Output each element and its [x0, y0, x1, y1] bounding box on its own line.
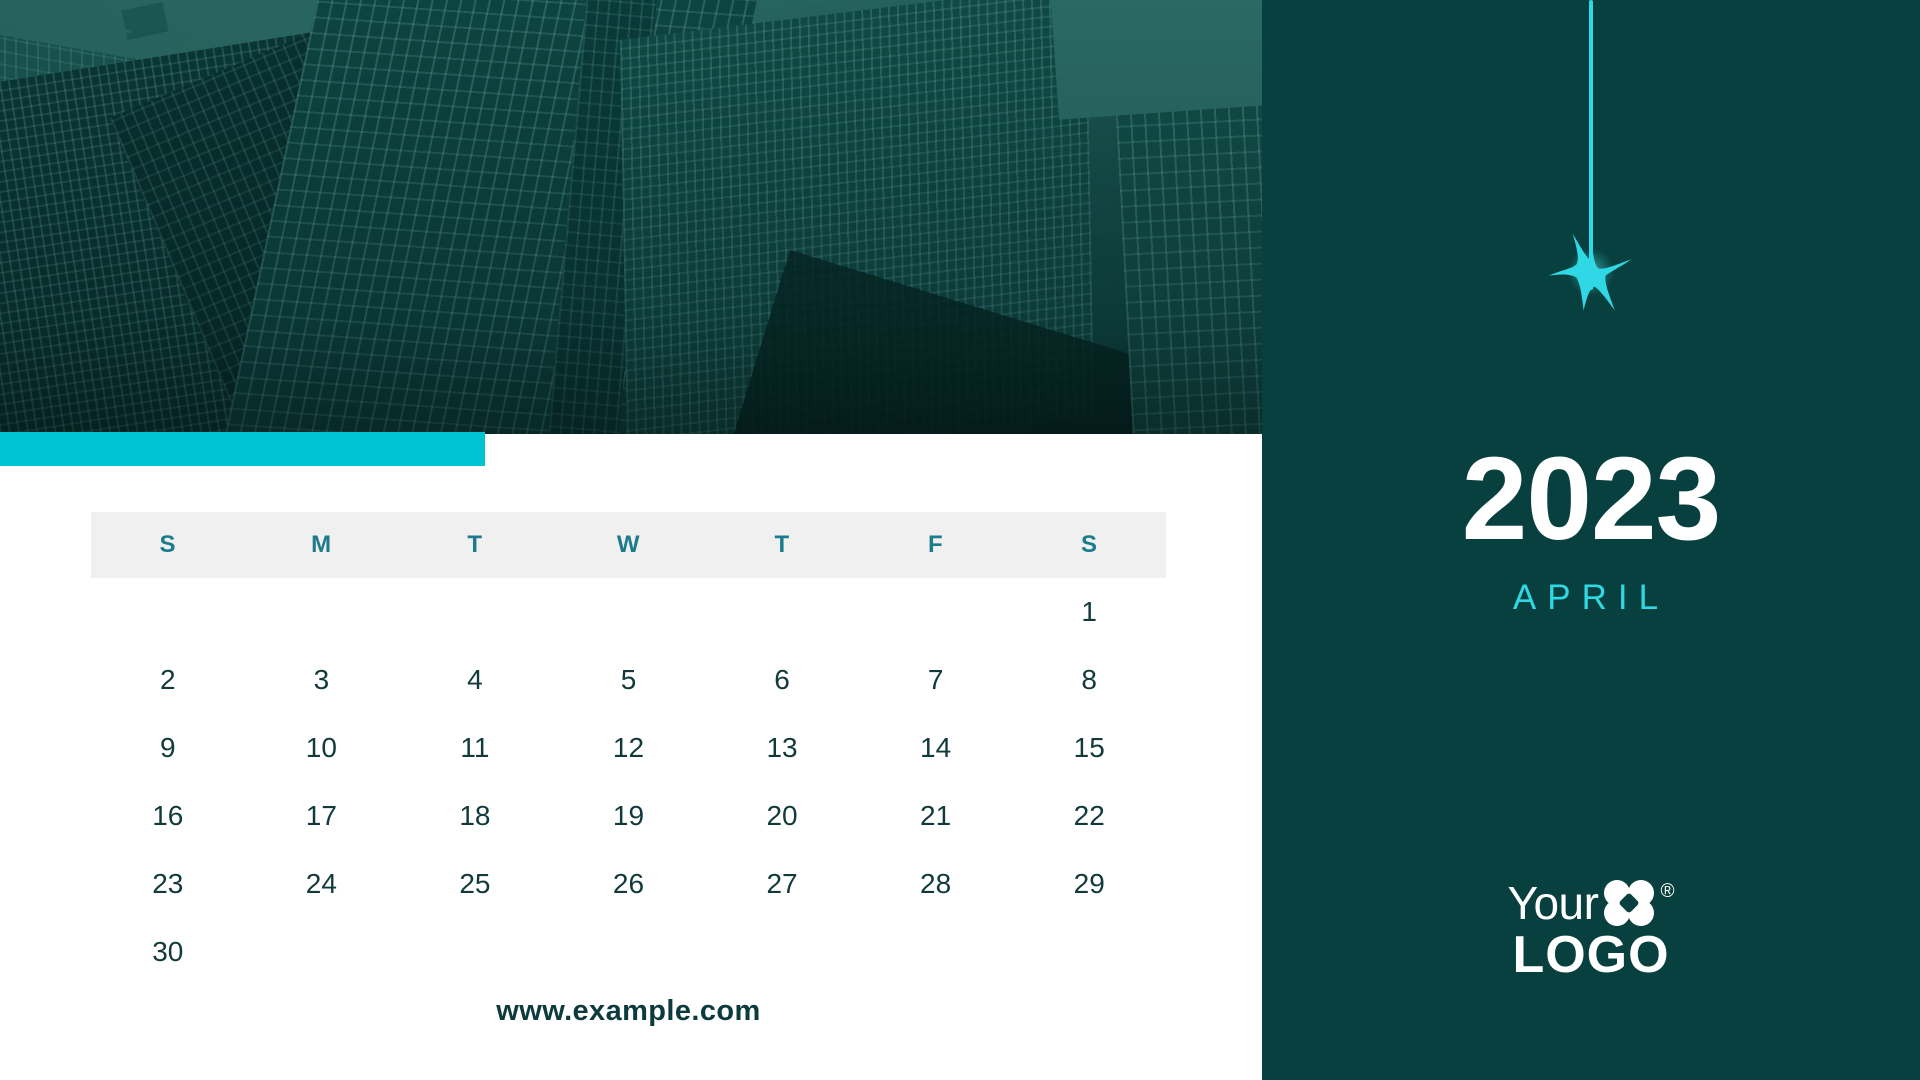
- calendar-date-3[interactable]: 3: [245, 646, 399, 714]
- photo-duotone-tint: [0, 0, 1262, 434]
- weekday-header-fri: F: [859, 531, 1013, 559]
- logo[interactable]: Your ® LOGO: [1262, 880, 1920, 983]
- calendar-date-5[interactable]: 5: [552, 646, 706, 714]
- calendar-date-7[interactable]: 7: [859, 646, 1013, 714]
- calendar-page: S M T W T F S 12345678910111213141516171…: [0, 0, 1920, 1080]
- hero-photo: [0, 0, 1262, 434]
- calendar-date-28[interactable]: 28: [859, 850, 1013, 918]
- weekday-header-thu: T: [705, 531, 859, 559]
- calendar-date-10[interactable]: 10: [245, 714, 399, 782]
- calendar-date-14[interactable]: 14: [859, 714, 1013, 782]
- calendar-date-2[interactable]: 2: [91, 646, 245, 714]
- calendar-date-26[interactable]: 26: [552, 850, 706, 918]
- calendar-date-4[interactable]: 4: [398, 646, 552, 714]
- weekday-header-wed: W: [552, 531, 706, 559]
- website-url[interactable]: www.example.com: [91, 995, 1166, 1028]
- calendar-date-12[interactable]: 12: [552, 714, 706, 782]
- calendar-date-grid: 1234567891011121314151617181920212223242…: [91, 578, 1166, 986]
- registered-trademark-icon: ®: [1660, 882, 1674, 901]
- calendar-date-22[interactable]: 22: [1012, 782, 1166, 850]
- calendar-date-18[interactable]: 18: [398, 782, 552, 850]
- calendar-date-16[interactable]: 16: [91, 782, 245, 850]
- calendar-date-30[interactable]: 30: [91, 918, 245, 986]
- calendar-date-9[interactable]: 9: [91, 714, 245, 782]
- logo-word-logo: LOGO: [1262, 928, 1920, 983]
- calendar-date-6[interactable]: 6: [705, 646, 859, 714]
- calendar-date-15[interactable]: 15: [1012, 714, 1166, 782]
- logo-word-your: Your: [1508, 880, 1599, 926]
- weekday-header-sat: S: [1012, 531, 1166, 559]
- calendar-date-24[interactable]: 24: [245, 850, 399, 918]
- accent-bar: [0, 432, 485, 466]
- calendar-date-25[interactable]: 25: [398, 850, 552, 918]
- left-section: S M T W T F S 12345678910111213141516171…: [0, 0, 1262, 1080]
- weekday-header-mon: M: [245, 531, 399, 559]
- month-title: APRIL: [1262, 578, 1920, 618]
- calendar-date-19[interactable]: 19: [552, 782, 706, 850]
- calendar-table: S M T W T F S 12345678910111213141516171…: [91, 512, 1166, 986]
- calendar-date-27[interactable]: 27: [705, 850, 859, 918]
- calendar-date-8[interactable]: 8: [1012, 646, 1166, 714]
- calendar-date-23[interactable]: 23: [91, 850, 245, 918]
- calendar-date-1[interactable]: 1: [1012, 578, 1166, 646]
- logo-top-row: Your ®: [1262, 880, 1920, 926]
- calendar-date-21[interactable]: 21: [859, 782, 1013, 850]
- calendar-header-row: S M T W T F S: [91, 512, 1166, 578]
- calendar-date-13[interactable]: 13: [705, 714, 859, 782]
- year-title: 2023: [1262, 440, 1920, 558]
- clover-mark-icon: [1604, 880, 1654, 926]
- calendar-date-17[interactable]: 17: [245, 782, 399, 850]
- right-panel: 2023 APRIL Your ® LOGO: [1262, 0, 1920, 1080]
- calendar-date-20[interactable]: 20: [705, 782, 859, 850]
- calendar-date-11[interactable]: 11: [398, 714, 552, 782]
- sparkle-star-icon: [1545, 226, 1637, 318]
- weekday-header-sun: S: [91, 531, 245, 559]
- weekday-header-tue: T: [398, 531, 552, 559]
- calendar-date-29[interactable]: 29: [1012, 850, 1166, 918]
